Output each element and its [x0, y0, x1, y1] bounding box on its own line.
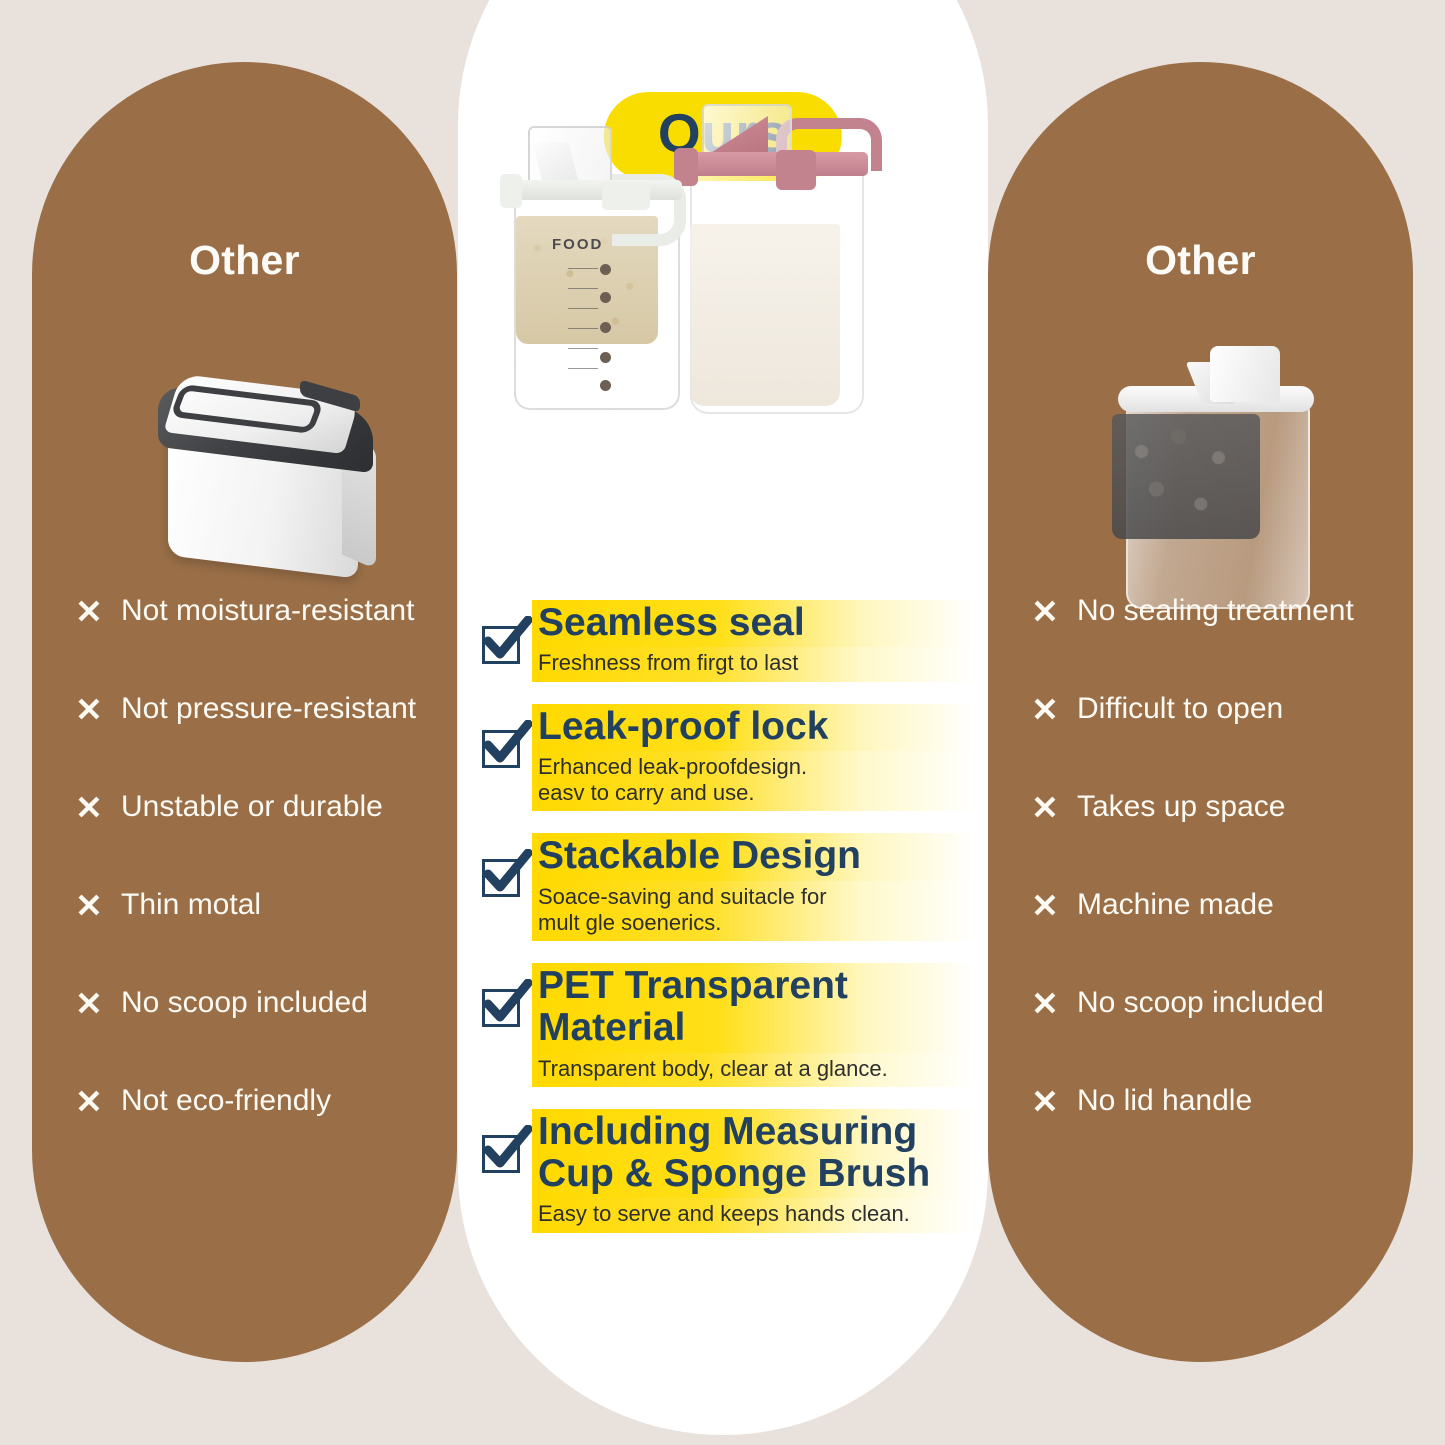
- cross-icon: ✕: [70, 791, 108, 824]
- list-item-label: Difficult to open: [1077, 692, 1283, 727]
- list-item-label: No scoop included: [1077, 986, 1324, 1021]
- scale-tick: [568, 268, 598, 269]
- feature-desc: Erhanced leak-proofdesign. easv to carry…: [532, 751, 976, 812]
- food-jar-collar: [508, 180, 682, 200]
- feature-item: Including Measuring Cup & Sponge Brush E…: [476, 1109, 976, 1233]
- white-storage-bin-icon: [150, 362, 400, 582]
- checkmark-glyph: [480, 616, 532, 666]
- checkmark-glyph: [480, 979, 532, 1029]
- scale-dot: [600, 264, 611, 275]
- list-item: ✕ Thin motal: [70, 856, 430, 954]
- checkbox-checked-icon: [476, 851, 532, 905]
- list-item: ✕ Not moistura-resistant: [70, 562, 430, 660]
- pink-jar-lid: [682, 152, 868, 176]
- feature-item: Leak-proof lock Erhanced leak-proofdesig…: [476, 704, 976, 812]
- checkbox-checked-icon: [476, 1127, 532, 1181]
- food-jar-measuring-scale: [568, 264, 608, 392]
- list-item-label: Not eco-friendly: [121, 1084, 331, 1119]
- cross-icon: ✕: [1026, 1085, 1064, 1118]
- food-jar-clip-right: [602, 182, 650, 210]
- pink-jar-clip-right: [776, 150, 816, 190]
- scale-dot: [600, 352, 611, 363]
- scale-dot: [600, 322, 611, 333]
- cross-icon: ✕: [1026, 595, 1064, 628]
- scale-tick: [568, 308, 598, 309]
- checkbox-checked-icon: [476, 618, 532, 672]
- scale-tick: [568, 328, 598, 329]
- cross-icon: ✕: [1026, 791, 1064, 824]
- feature-desc: Transparent body, clear at a glance.: [532, 1053, 976, 1087]
- list-item-label: Machine made: [1077, 888, 1274, 923]
- cross-icon: ✕: [70, 693, 108, 726]
- food-jar-label: FOOD: [552, 236, 603, 253]
- ours-product-images: FOOD: [458, 86, 988, 426]
- checkmark-glyph: [480, 1125, 532, 1175]
- pellet-spout-cap: [1210, 346, 1280, 402]
- feature-desc: Freshness from firgt to last: [532, 647, 976, 681]
- cross-icon: ✕: [1026, 693, 1064, 726]
- list-item: ✕ No scoop included: [70, 954, 430, 1052]
- list-item: ✕ No sealing treatment: [1026, 562, 1386, 660]
- feature-item: PET Transparent Material Transparent bod…: [476, 963, 976, 1087]
- list-item-label: Not moistura-resistant: [121, 594, 414, 629]
- cross-icon: ✕: [1026, 889, 1064, 922]
- feature-text: Leak-proof lock Erhanced leak-proofdesig…: [532, 704, 976, 812]
- feature-text: Seamless seal Freshness from firgt to la…: [532, 600, 976, 682]
- list-item-label: No scoop included: [121, 986, 368, 1021]
- checkmark-glyph: [480, 720, 532, 770]
- list-item-label: No lid handle: [1077, 1084, 1252, 1119]
- feature-title: Including Measuring Cup & Sponge Brush: [532, 1109, 976, 1198]
- checkmark-glyph: [480, 849, 532, 899]
- comparison-infographic: Other ✕ Not moistura-resistant ✕ Not pre…: [0, 0, 1445, 1445]
- checkbox-checked-icon: [476, 722, 532, 776]
- other-title-left: Other: [32, 237, 457, 284]
- list-item-label: Unstable or durable: [121, 790, 383, 825]
- other-title-right: Other: [988, 237, 1413, 284]
- cross-icon: ✕: [70, 987, 108, 1020]
- scale-tick: [568, 348, 598, 349]
- cross-icon: ✕: [70, 595, 108, 628]
- scale-dot: [600, 380, 611, 391]
- checkbox-checked-icon: [476, 981, 532, 1035]
- cross-icon: ✕: [70, 1085, 108, 1118]
- feature-text: PET Transparent Material Transparent bod…: [532, 963, 976, 1087]
- list-item: ✕ Difficult to open: [1026, 660, 1386, 758]
- list-item: ✕ No lid handle: [1026, 1052, 1386, 1150]
- pink-jar-contents: [690, 224, 840, 406]
- pellet-fill: [1112, 414, 1260, 539]
- list-item: ✕ Not eco-friendly: [70, 1052, 430, 1150]
- pink-container-icon: [680, 96, 870, 414]
- feature-text: Stackable Design Soace-saving and suitac…: [532, 833, 976, 941]
- list-item: ✕ Unstable or durable: [70, 758, 430, 856]
- ours-column: Ours FOOD: [458, 0, 988, 1435]
- other-column-right: Other ✕ No sealing treatment ✕ Difficult…: [988, 62, 1413, 1362]
- scale-tick: [568, 288, 598, 289]
- feature-title: Seamless seal: [532, 600, 976, 647]
- list-item: ✕ Not pressure-resistant: [70, 660, 430, 758]
- feature-desc: Soace-saving and suitacle for mult gle s…: [532, 881, 976, 942]
- list-item-label: No sealing treatment: [1077, 594, 1354, 629]
- scale-tick: [568, 368, 598, 369]
- list-item: ✕ Machine made: [1026, 856, 1386, 954]
- scale-dot: [600, 292, 611, 303]
- cross-icon: ✕: [1026, 987, 1064, 1020]
- feature-item: Stackable Design Soace-saving and suitac…: [476, 833, 976, 941]
- feature-text: Including Measuring Cup & Sponge Brush E…: [532, 1109, 976, 1233]
- food-jar-clip-left: [500, 174, 522, 208]
- feature-item: Seamless seal Freshness from firgt to la…: [476, 600, 976, 682]
- drawback-list-right: ✕ No sealing treatment ✕ Difficult to op…: [1026, 562, 1386, 1150]
- feature-desc: Easy to serve and keeps hands clean.: [532, 1198, 976, 1232]
- feature-title: PET Transparent Material: [532, 963, 976, 1052]
- feature-list: Seamless seal Freshness from firgt to la…: [476, 600, 976, 1255]
- other-column-left: Other ✕ Not moistura-resistant ✕ Not pre…: [32, 62, 457, 1362]
- list-item-label: Not pressure-resistant: [121, 692, 416, 727]
- feature-title: Leak-proof lock: [532, 704, 976, 751]
- drawback-list-left: ✕ Not moistura-resistant ✕ Not pressure-…: [70, 562, 430, 1150]
- list-item-label: Takes up space: [1077, 790, 1285, 825]
- food-container-icon: FOOD: [506, 124, 686, 409]
- list-item: ✕ Takes up space: [1026, 758, 1386, 856]
- feature-title: Stackable Design: [532, 833, 976, 880]
- cross-icon: ✕: [70, 889, 108, 922]
- list-item-label: Thin motal: [121, 888, 261, 923]
- list-item: ✕ No scoop included: [1026, 954, 1386, 1052]
